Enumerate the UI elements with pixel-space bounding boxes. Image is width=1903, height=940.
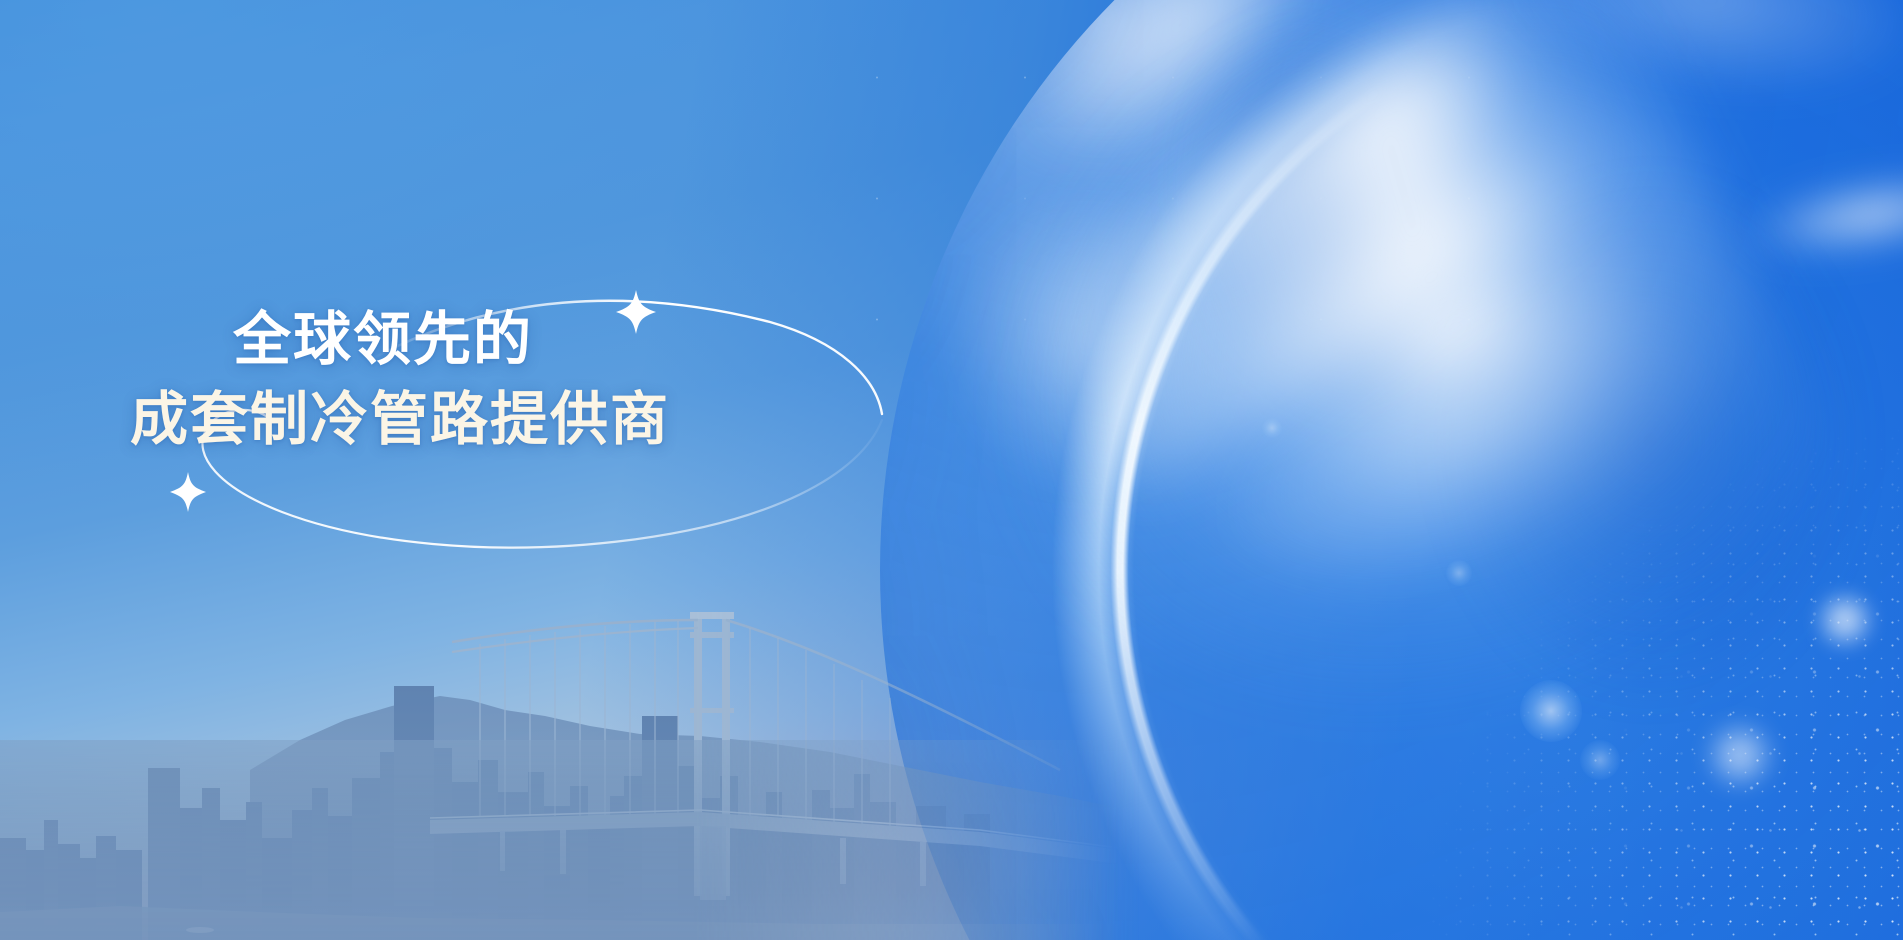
lens-flare-orb [1580,740,1620,780]
headline-line-1: 全球领先的 [233,300,1030,380]
hero-banner: 全球领先的 成套制冷管路提供商 [0,0,1903,940]
lens-flare-orb [1446,560,1472,586]
sea-water [0,740,1200,940]
lens-flare-orb [1262,418,1282,438]
hero-headline: 全球领先的 成套制冷管路提供商 [130,300,1030,460]
headline-line-2: 成套制冷管路提供商 [130,380,1030,460]
lens-flare-orb [1520,680,1582,742]
